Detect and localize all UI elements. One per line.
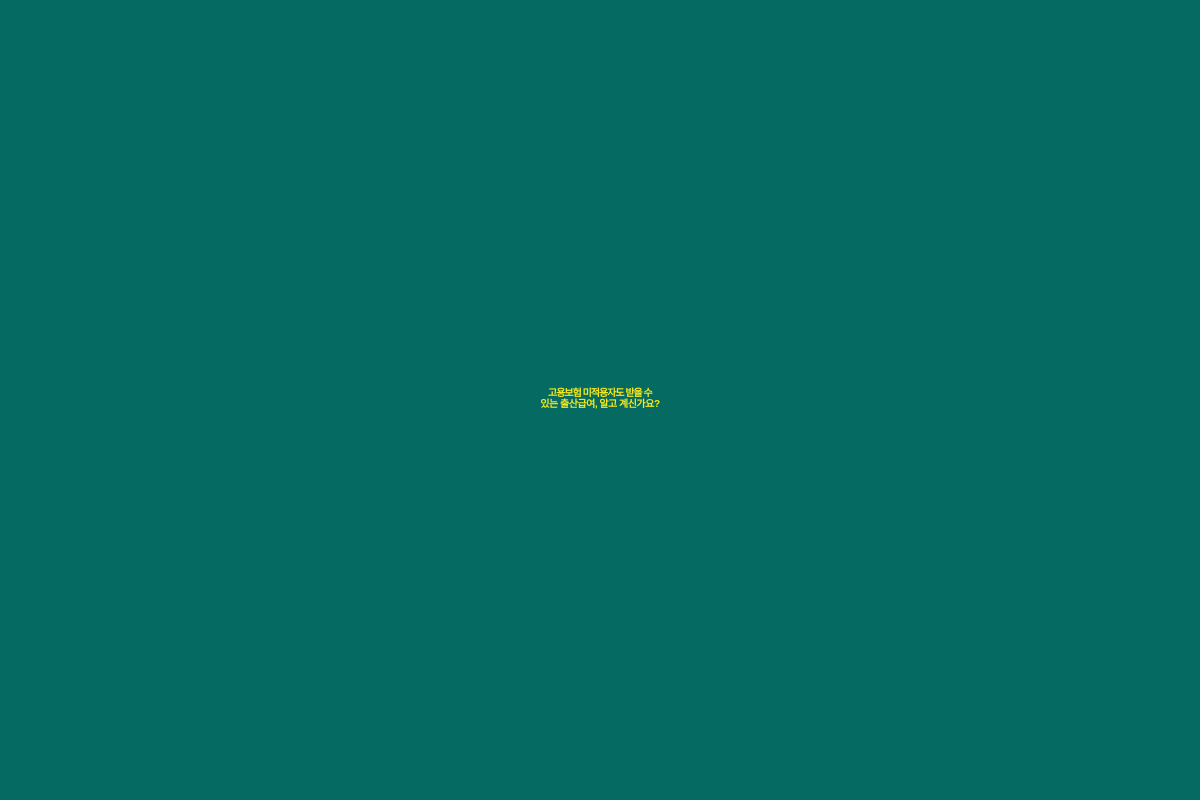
banner-card: 고용보험 미적용자도 받을 수 있는 출산급여, 알고 계신가요? (0, 0, 1200, 800)
headline-line-1: 고용보험 미적용자도 받을 수 (16, 388, 1184, 399)
headline-line-2: 있는 출산급여, 알고 계신가요? (16, 399, 1184, 410)
headline-block: 고용보험 미적용자도 받을 수 있는 출산급여, 알고 계신가요? (0, 388, 1200, 410)
